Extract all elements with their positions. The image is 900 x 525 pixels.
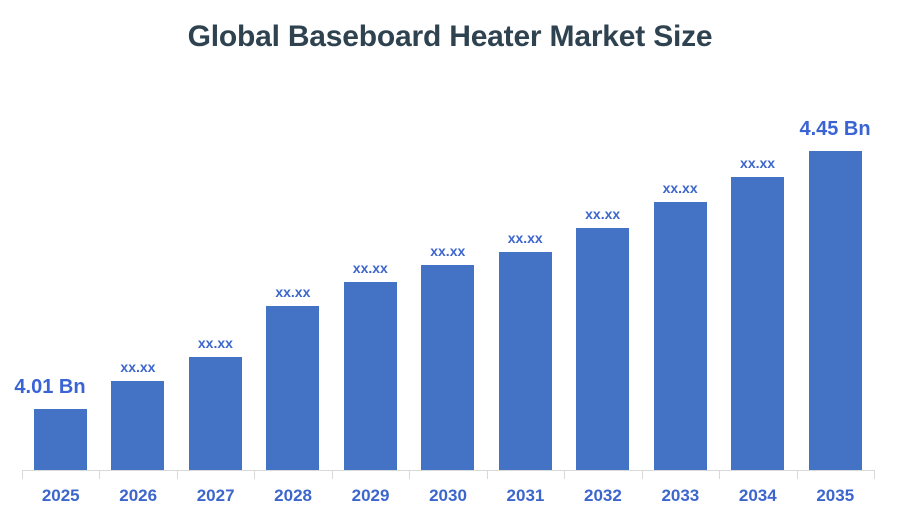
axis-tick-2032	[564, 470, 565, 479]
axis-tick-2034	[719, 470, 720, 479]
bar-2025[interactable]	[34, 409, 87, 470]
axis-tick-end	[874, 470, 875, 479]
x-label-2031: 2031	[487, 486, 564, 506]
bar-value-label-2026: xx.xx	[99, 359, 176, 375]
bar-value-label-2031: xx.xx	[487, 230, 564, 246]
bar-2033[interactable]	[654, 202, 707, 470]
axis-tick-2030	[409, 470, 410, 479]
x-label-2033: 2033	[642, 486, 719, 506]
bar-value-label-2034: xx.xx	[719, 155, 796, 171]
bar-value-label-2035: 4.45 Bn	[797, 118, 874, 141]
bar-2034[interactable]	[731, 177, 784, 470]
bar-value-label-2033: xx.xx	[642, 180, 719, 196]
bar-2029[interactable]	[344, 282, 397, 470]
bar-group-2028[interactable]: xx.xx	[254, 90, 331, 470]
bar-value-label-2025: 4.01 Bn	[0, 376, 100, 399]
axis-tick-2026	[99, 470, 100, 479]
x-label-2032: 2032	[564, 486, 641, 506]
axis-tick-2029	[332, 470, 333, 479]
x-label-2029: 2029	[332, 486, 409, 506]
x-label-2028: 2028	[254, 486, 331, 506]
bar-group-2035[interactable]: 4.45 Bn	[797, 90, 874, 470]
bar-2032[interactable]	[576, 228, 629, 470]
bar-value-label-2027: xx.xx	[177, 335, 254, 351]
bar-value-label-2028: xx.xx	[254, 284, 331, 300]
axis-tick-2027	[177, 470, 178, 479]
bar-group-2031[interactable]: xx.xx	[487, 90, 564, 470]
bar-group-2034[interactable]: xx.xx	[719, 90, 796, 470]
plot-area: 4.01 Bnxx.xxxx.xxxx.xxxx.xxxx.xxxx.xxxx.…	[22, 90, 874, 470]
bar-2028[interactable]	[266, 306, 319, 470]
bar-2030[interactable]	[421, 265, 474, 470]
bar-group-2027[interactable]: xx.xx	[177, 90, 254, 470]
bar-2031[interactable]	[499, 252, 552, 470]
bar-value-label-2032: xx.xx	[564, 206, 641, 222]
x-label-2026: 2026	[99, 486, 176, 506]
x-label-2034: 2034	[719, 486, 796, 506]
axis-tick-2033	[642, 470, 643, 479]
bar-value-label-2030: xx.xx	[409, 243, 486, 259]
bar-group-2030[interactable]: xx.xx	[409, 90, 486, 470]
axis-tick-2031	[487, 470, 488, 479]
x-label-2027: 2027	[177, 486, 254, 506]
bar-group-2032[interactable]: xx.xx	[564, 90, 641, 470]
bar-value-label-2029: xx.xx	[332, 260, 409, 276]
x-axis-category-labels: 2025202620272028202920302031203220332034…	[22, 486, 874, 516]
axis-tick-2035	[797, 470, 798, 479]
bar-2026[interactable]	[111, 381, 164, 470]
chart-title: Global Baseboard Heater Market Size	[0, 20, 900, 54]
axis-tick-2025	[22, 470, 23, 479]
x-axis-line	[22, 470, 874, 471]
bar-2027[interactable]	[189, 357, 242, 470]
bar-chart: Global Baseboard Heater Market Size 4.01…	[0, 0, 900, 525]
bar-2035[interactable]	[809, 151, 862, 470]
bar-group-2029[interactable]: xx.xx	[332, 90, 409, 470]
x-label-2035: 2035	[797, 486, 874, 506]
bar-group-2025[interactable]: 4.01 Bn	[22, 90, 99, 470]
axis-tick-2028	[254, 470, 255, 479]
x-label-2030: 2030	[409, 486, 486, 506]
x-label-2025: 2025	[22, 486, 99, 506]
bar-group-2033[interactable]: xx.xx	[642, 90, 719, 470]
bar-group-2026[interactable]: xx.xx	[99, 90, 176, 470]
